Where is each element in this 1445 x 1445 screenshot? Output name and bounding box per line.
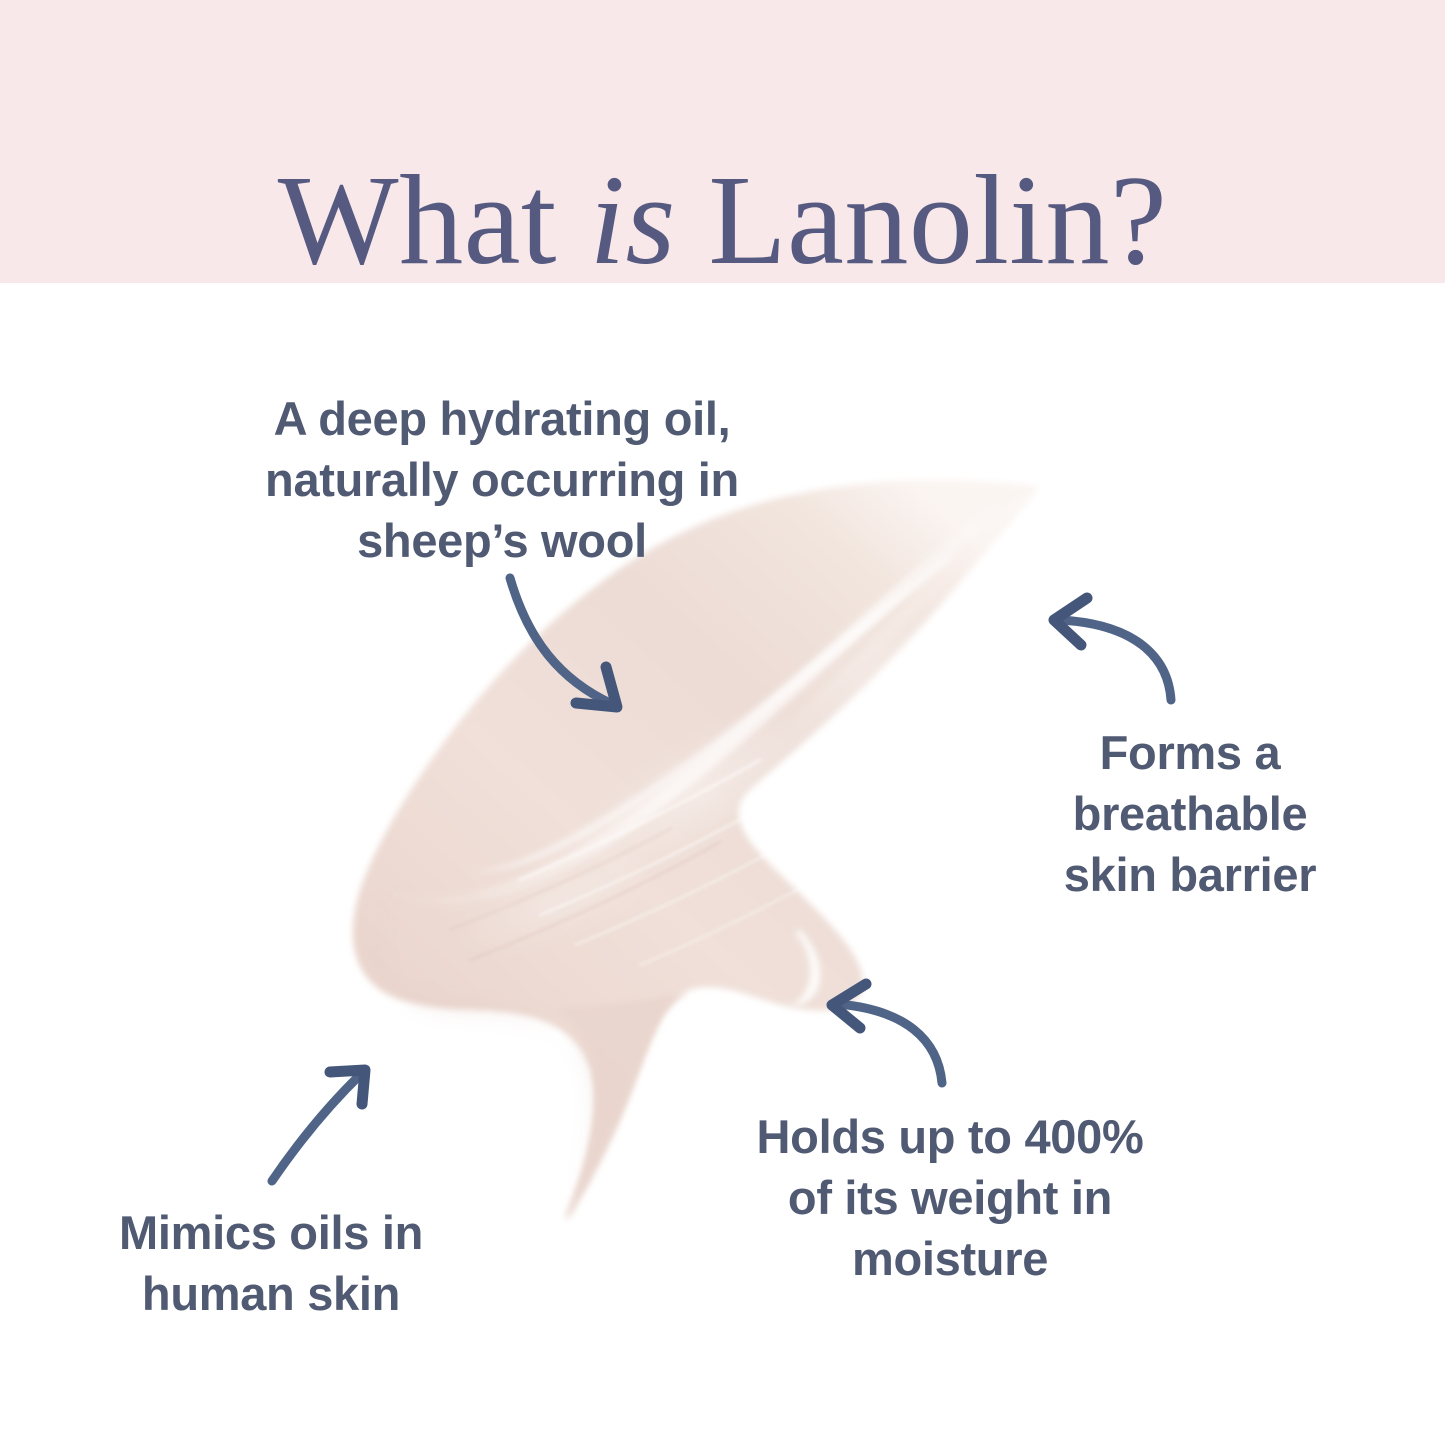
annotation-mimics-human-oils: Mimics oils in human skin bbox=[72, 1202, 470, 1324]
infographic-page: What is Lanolin? bbox=[0, 0, 1445, 1445]
arrow-bottom-left-icon bbox=[272, 1070, 365, 1181]
annotation-holds-moisture: Holds up to 400% of its weight in moistu… bbox=[690, 1106, 1210, 1289]
annotation-deep-hydrating-oil: A deep hydrating oil, naturally occurrin… bbox=[212, 388, 792, 571]
arrow-top-left-icon bbox=[510, 578, 617, 707]
annotation-breathable-barrier: Forms a breathable skin barrier bbox=[1020, 722, 1360, 905]
arrow-right-icon bbox=[1054, 598, 1171, 700]
arrow-bottom-middle-icon bbox=[832, 984, 942, 1083]
